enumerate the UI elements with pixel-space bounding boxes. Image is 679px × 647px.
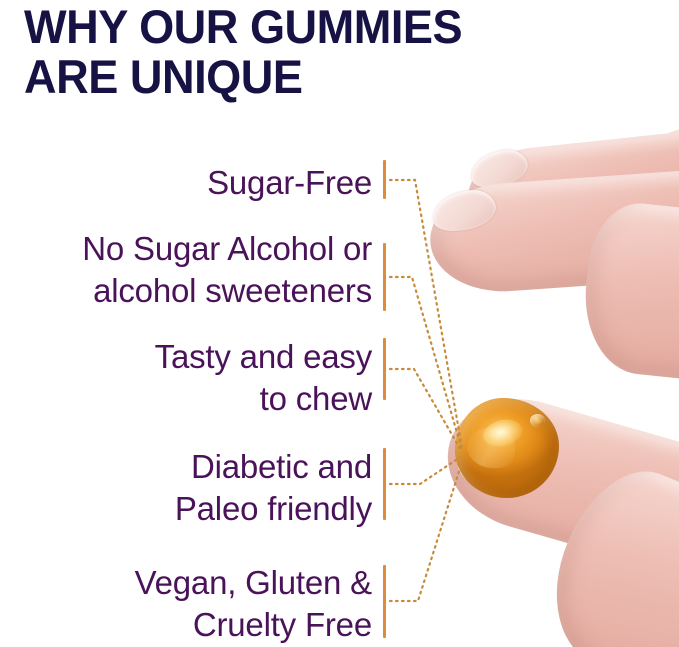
tick-mark-tasty-easy-chew (383, 338, 386, 400)
gummy-dimple (530, 414, 545, 427)
feature-item-diabetic-paleo: Diabetic and Paleo friendly (0, 446, 372, 530)
feature-item-no-sugar-alcohol: No Sugar Alcohol or alcohol sweeteners (0, 228, 372, 312)
gummy-candy (455, 398, 559, 498)
tick-mark-no-sugar-alcohol (383, 243, 386, 311)
hand-illustration (400, 120, 679, 647)
tick-mark-vegan-gluten-free (383, 565, 386, 638)
product-infographic: WHY OUR GUMMIES ARE UNIQUE Sugar-FreeNo … (0, 0, 679, 647)
tick-mark-sugar-free (383, 160, 386, 199)
feature-item-sugar-free: Sugar-Free (0, 162, 372, 204)
tick-mark-diabetic-paleo (383, 448, 386, 520)
feature-item-tasty-easy-chew: Tasty and easy to chew (0, 336, 372, 420)
page-title: WHY OUR GUMMIES ARE UNIQUE (24, 2, 562, 102)
feature-item-vegan-gluten-free: Vegan, Gluten & Cruelty Free (0, 562, 372, 646)
